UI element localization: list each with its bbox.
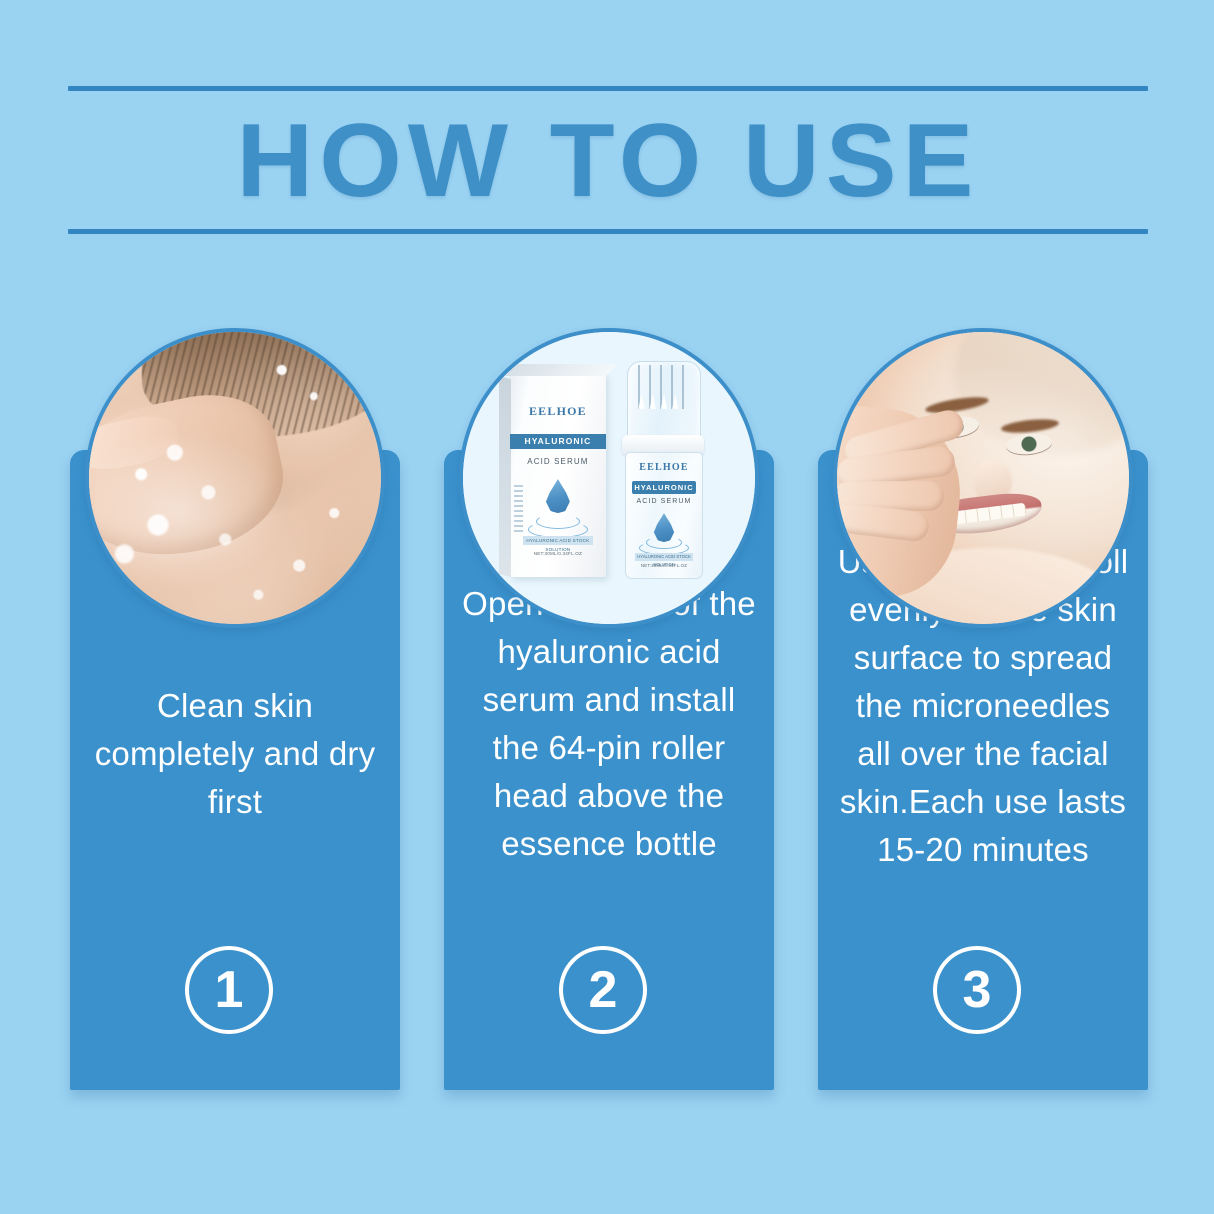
product-photo: EELHOE HYALURONIC ACID SERUM HYALURONIC … bbox=[463, 332, 755, 624]
washing-face-photo bbox=[89, 332, 381, 624]
bottle-micro-band-label: HYALURONIC ACID STOCK SOLUTION bbox=[635, 553, 693, 561]
box-net-label: NET:30ML/0.34FL.OZ bbox=[510, 551, 606, 556]
step-image-1 bbox=[85, 328, 385, 628]
header: HOW TO USE bbox=[68, 86, 1148, 234]
box-subname-label: ACID SERUM bbox=[510, 457, 606, 466]
step-number-badge-1: 1 bbox=[185, 946, 273, 1034]
step-image-3 bbox=[833, 328, 1133, 628]
microneedle-pins-icon bbox=[638, 365, 689, 409]
step-image-2: EELHOE HYALURONIC ACID SERUM HYALURONIC … bbox=[459, 328, 759, 628]
title-rule-bottom bbox=[68, 229, 1148, 234]
bottle-brand-label: EELHOE bbox=[626, 462, 702, 473]
water-droplet-icon bbox=[545, 479, 571, 513]
bottle-body: EELHOE HYALURONIC ACID SERUM HYALURONIC … bbox=[625, 452, 703, 579]
water-droplets-shape bbox=[89, 332, 381, 624]
bottle-subname-label: ACID SERUM bbox=[626, 498, 702, 505]
product-bottle: EELHOE HYALURONIC ACID SERUM HYALURONIC … bbox=[621, 361, 706, 577]
steps-container: Clean skin completely and dry first 1 Op… bbox=[0, 328, 1214, 1118]
step-number-badge-2: 2 bbox=[559, 946, 647, 1034]
smiling-woman-photo bbox=[837, 332, 1129, 624]
bottle-band-label: HYALURONIC bbox=[632, 481, 696, 494]
page-title: HOW TO USE bbox=[57, 91, 1159, 229]
bottle-net-label: NET:30ML/0.34FL.OZ bbox=[626, 563, 702, 568]
box-micro-band-label: HYALURONIC ACID STOCK SOLUTION bbox=[523, 536, 592, 545]
step-caption-1: Clean skin completely and dry first bbox=[88, 682, 382, 826]
product-box: EELHOE HYALURONIC ACID SERUM HYALURONIC … bbox=[510, 373, 606, 577]
roller-head-cap bbox=[627, 361, 700, 441]
box-band-label: HYALURONIC bbox=[510, 434, 606, 449]
box-brand-label: EELHOE bbox=[510, 404, 606, 419]
box-barcode-lines bbox=[514, 485, 523, 534]
step-number-badge-3: 3 bbox=[933, 946, 1021, 1034]
box-top-panel bbox=[500, 364, 617, 376]
